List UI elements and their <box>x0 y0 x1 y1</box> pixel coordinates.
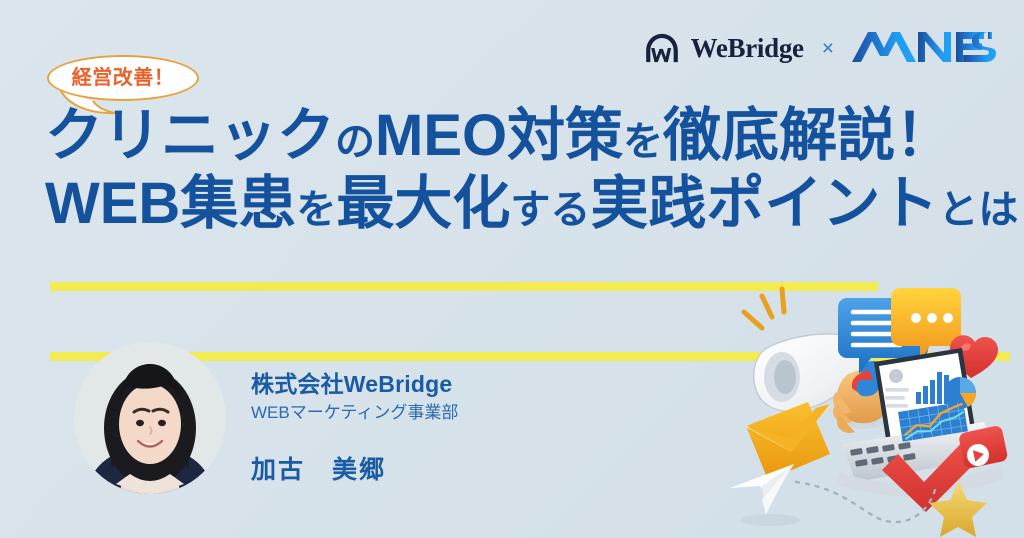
mnes-logo <box>852 29 996 67</box>
paper-plane-icon <box>730 464 800 526</box>
badge: 経営改善！ <box>47 55 199 101</box>
speaker-info: 株式会社WeBridge WEBマーケティング事業部 加古 美郷 <box>251 370 458 486</box>
speaker-name: 加古 美郷 <box>251 450 458 486</box>
cross-symbol: × <box>820 38 836 59</box>
headline-line-2: WEB集患を最大化する実践ポイントとは <box>45 174 1005 233</box>
marketing-illustration <box>722 276 1024 538</box>
badge-label: 経営改善！ <box>72 68 175 88</box>
speaker-company: 株式会社WeBridge <box>251 370 458 399</box>
headline-l2-particle1: を <box>296 188 336 232</box>
illustration-svg <box>722 276 1024 538</box>
speaker-portrait-photo <box>74 342 226 494</box>
badge-bubble: 経営改善！ <box>47 55 199 101</box>
headline-l2-part3: 実践ポイント <box>590 171 938 236</box>
headline-l2-particle2: する <box>510 188 590 232</box>
headline: クリニックのMEO対策を徹底解説！ WEB集患を最大化する実践ポイントとは <box>45 106 1005 233</box>
headline-l2-particle3: とは <box>938 188 1018 232</box>
headline-l2-part2: 最大化 <box>336 171 510 236</box>
headline-l2-part1: WEB集患 <box>45 171 296 236</box>
headline-l1-part3: 徹底解説！ <box>663 103 953 168</box>
profile-avatar-icon <box>889 369 903 383</box>
webridge-arch-mark-icon <box>642 28 682 68</box>
banner-canvas: WeBridge × <box>0 0 1024 538</box>
headline-l1-part1: クリニック <box>45 103 335 168</box>
sound-rays-icon <box>744 289 784 328</box>
headline-line-1: クリニックのMEO対策を徹底解説！ <box>45 106 1005 165</box>
logo-row: WeBridge × <box>642 28 996 68</box>
avatar <box>74 342 226 494</box>
headline-l1-particle2: を <box>623 120 663 164</box>
webridge-wordmark: WeBridge <box>691 35 804 62</box>
webridge-logo: WeBridge <box>642 28 804 68</box>
speaker-department: WEBマーケティング事業部 <box>251 402 458 424</box>
headline-l1-part2: MEO対策 <box>375 103 623 168</box>
headline-l1-particle1: の <box>335 120 375 164</box>
